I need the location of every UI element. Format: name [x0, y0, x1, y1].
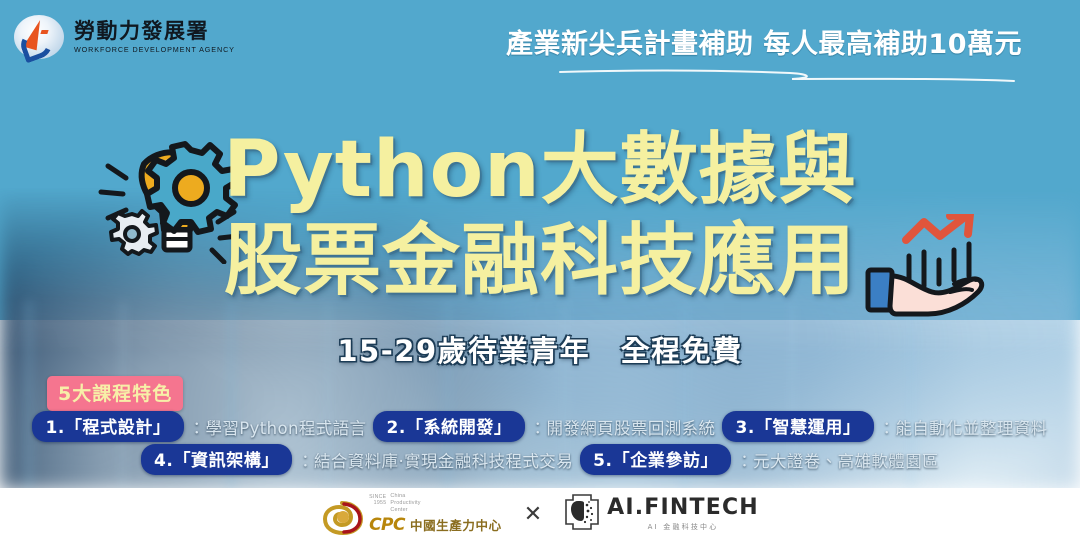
cpc-en-line-1: China	[390, 493, 420, 500]
feature-desc: ：學習Python程式語言	[189, 415, 367, 439]
ai-fintech-name: AI.FINTECH	[607, 497, 759, 519]
list-item: 5.「企業參訪」 ：元大證卷、高雄軟體園區	[580, 444, 939, 475]
wavy-underline-swoosh-icon	[506, 65, 1022, 90]
footer-logos: SINCE 1955 China Productivity Center CPC…	[0, 488, 1080, 540]
cpc-abbreviation: CPC	[369, 515, 405, 535]
list-item: 2.「系統開發」 ：開發網頁股票回測系統	[373, 411, 715, 442]
title-line-2: 股票金融科技應用	[0, 223, 1080, 300]
feature-row: 1.「程式設計」 ：學習Python程式語言 2.「系統開發」 ：開發網頁股票回…	[0, 410, 1080, 443]
logo-separator-x: ✕	[524, 501, 542, 527]
feature-pill: 2.「系統開發」	[373, 411, 524, 442]
feature-row: 4.「資訊架構」 ：結合資料庫‧實現金融科技程式交易 5.「企業參訪」 ：元大證…	[0, 443, 1080, 476]
subsidy-headline: 產業新尖兵計畫補助 每人最高補助10萬元	[506, 22, 1022, 90]
agency-name-en: WORKFORCE DEVELOPMENT AGENCY	[74, 46, 235, 53]
cpc-en-line-3: Center	[390, 507, 420, 514]
brain-chip-logo-icon	[564, 493, 600, 536]
cpc-en-lines: China Productivity Center	[390, 493, 420, 514]
cpc-swirl-logo-icon	[321, 501, 363, 535]
cpc-english-name: SINCE 1955 China Productivity Center	[369, 493, 502, 514]
feature-pill: 4.「資訊架構」	[141, 444, 292, 475]
feature-desc: ：結合資料庫‧實現金融科技程式交易	[297, 448, 573, 472]
feature-badge: 5大課程特色	[47, 376, 183, 411]
subtitle: 15-29歲待業青年 全程免費	[0, 328, 1080, 370]
agency-name-cn: 勞動力發展署	[74, 21, 235, 42]
feature-pill: 1.「程式設計」	[32, 411, 183, 442]
ai-fintech-logo: AI.FINTECH AI 金融科技中心	[564, 493, 759, 536]
agency-logo-text: 勞動力發展署 WORKFORCE DEVELOPMENT AGENCY	[74, 21, 235, 53]
feature-desc: ：開發網頁股票回測系統	[530, 415, 716, 439]
subsidy-text: 產業新尖兵計畫補助 每人最高補助10萬元	[506, 22, 1022, 61]
cpc-since: SINCE 1955	[369, 493, 386, 507]
cpc-logo: SINCE 1955 China Productivity Center CPC…	[321, 493, 502, 535]
cpc-bottom-text: CPC 中國生產力中心	[369, 515, 502, 535]
feature-pill: 3.「智慧運用」	[722, 411, 873, 442]
cpc-since-year: 1955	[369, 500, 386, 507]
agency-logo: 勞動力發展署 WORKFORCE DEVELOPMENT AGENCY	[13, 14, 235, 60]
feature-list: 1.「程式設計」 ：學習Python程式語言 2.「系統開發」 ：開發網頁股票回…	[0, 410, 1080, 476]
list-item: 3.「智慧運用」 ：能自動化並整理資料	[722, 411, 1047, 442]
list-item: 1.「程式設計」 ：學習Python程式語言	[32, 411, 366, 442]
ai-fintech-name-cn: AI 金融科技中心	[648, 522, 719, 532]
cpc-en-line-2: Productivity	[390, 500, 420, 507]
feature-pill: 5.「企業參訪」	[580, 444, 731, 475]
ai-fintech-text: AI.FINTECH AI 金融科技中心	[607, 497, 759, 532]
title-line-1: Python大數據與	[0, 132, 1080, 209]
feature-desc: ：能自動化並整理資料	[879, 415, 1048, 439]
list-item: 4.「資訊架構」 ：結合資料庫‧實現金融科技程式交易	[141, 444, 573, 475]
cpc-text: SINCE 1955 China Productivity Center CPC…	[369, 493, 502, 535]
cpc-name-cn: 中國生產力中心	[410, 515, 502, 534]
workforce-agency-emblem-icon	[13, 14, 65, 60]
feature-desc: ：元大證卷、高雄軟體園區	[736, 448, 939, 472]
page-title: Python大數據與 股票金融科技應用	[0, 132, 1080, 300]
course-poster: 勞動力發展署 WORKFORCE DEVELOPMENT AGENCY 產業新尖…	[0, 0, 1080, 540]
